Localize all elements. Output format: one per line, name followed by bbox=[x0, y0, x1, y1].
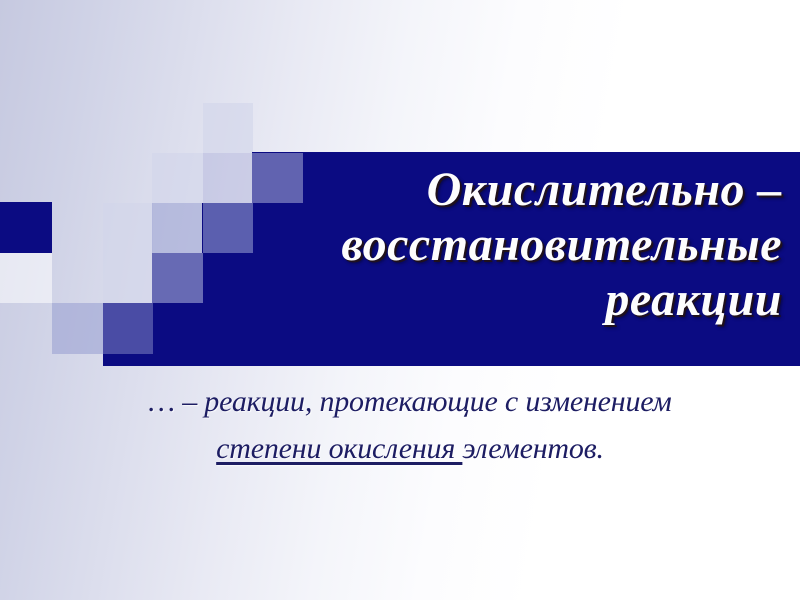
mosaic-square-overlay-e bbox=[103, 303, 153, 354]
slide-subtitle: … – реакции, протекающие с изменением ст… bbox=[40, 378, 780, 472]
title-line-2: восстановительные bbox=[255, 217, 782, 272]
title-line-1: Окислительно – bbox=[255, 162, 782, 217]
subtitle-line-1: … – реакции, протекающие с изменением bbox=[40, 378, 780, 425]
mosaic-square-lavender-b bbox=[152, 203, 203, 253]
mosaic-square-light-a bbox=[0, 253, 52, 303]
title-line-3: реакции bbox=[255, 272, 782, 327]
subtitle-line-2: степени окисления элементов. bbox=[40, 425, 780, 472]
subtitle-trailing-phrase: элементов. bbox=[462, 432, 603, 465]
slide-canvas: Окислительно – восстановительные реакции… bbox=[0, 0, 800, 600]
navy-accent-square bbox=[0, 202, 52, 253]
mosaic-square-overlay-c bbox=[152, 253, 203, 303]
slide-title: Окислительно – восстановительные реакции bbox=[255, 162, 800, 327]
subtitle-underlined-phrase: степени окисления bbox=[216, 432, 462, 465]
mosaic-square-overlay-d bbox=[52, 303, 103, 354]
mosaic-square-pale-d bbox=[103, 253, 153, 303]
mosaic-square-pale-c bbox=[103, 203, 153, 253]
mosaic-square-overlay-b bbox=[203, 203, 253, 253]
mosaic-square-lavender-a bbox=[203, 153, 253, 203]
mosaic-square-pale-b bbox=[152, 153, 203, 203]
mosaic-square-pale-a bbox=[203, 103, 253, 153]
